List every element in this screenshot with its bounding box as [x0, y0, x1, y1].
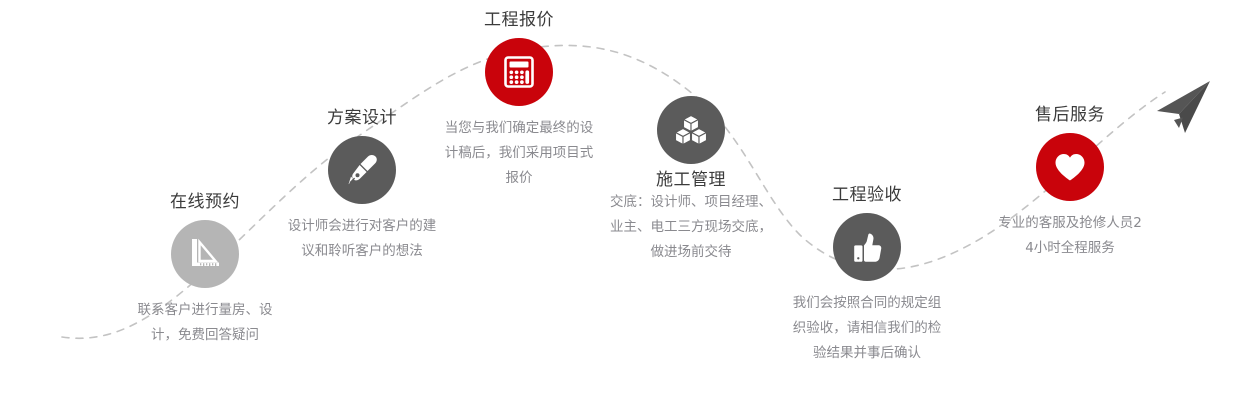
step-icon-circle[interactable] — [657, 96, 725, 164]
step-icon-circle[interactable] — [485, 38, 553, 106]
set-square-ruler-icon — [185, 234, 225, 274]
process-flow-infographic: 在线预约 联系客户进行量房、设计，免费回答疑问 — [0, 0, 1245, 402]
process-step-5[interactable]: 工程验收 我们会按照合同的规定组织验收，请相信我们的检验结果并事后确认 — [772, 185, 962, 366]
stacked-blocks-icon — [671, 110, 711, 150]
step-icon-circle[interactable] — [1036, 133, 1104, 201]
step-description: 当您与我们确定最终的设计稿后，我们采用项目式报价 — [444, 116, 594, 191]
step-title: 售后服务 — [975, 105, 1165, 125]
step-description: 我们会按照合同的规定组织验收，请相信我们的检验结果并事后确认 — [787, 291, 947, 366]
thumbs-up-icon — [847, 227, 887, 267]
step-description: 设计师会进行对客户的建议和聆听客户的想法 — [287, 214, 437, 264]
step-description: 联系客户进行量房、设计，免费回答疑问 — [130, 298, 280, 348]
fountain-pen-icon — [342, 150, 382, 190]
process-step-3[interactable]: 工程报价 — [424, 10, 614, 191]
calculator-icon — [499, 52, 539, 92]
heart-icon — [1050, 147, 1090, 187]
step-description: 交底：设计师、项目经理、业主、电工三方现场交底，做进场前交待 — [606, 190, 776, 265]
step-title: 工程验收 — [772, 185, 962, 205]
step-icon-circle[interactable] — [833, 213, 901, 281]
step-description: 专业的客服及抢修人员24小时全程服务 — [995, 211, 1145, 261]
process-step-6[interactable]: 售后服务 专业的客服及抢修人员24小时全程服务 — [975, 105, 1165, 261]
step-title: 施工管理 — [596, 170, 786, 190]
paper-plane-icon — [1148, 78, 1228, 142]
step-icon-circle[interactable] — [171, 220, 239, 288]
step-title: 工程报价 — [424, 10, 614, 30]
step-icon-circle[interactable] — [328, 136, 396, 204]
process-step-4[interactable]: 施工管理 交底：设计师、项目经理、业主、电工三方现场交底，做进场前交待 — [596, 88, 786, 265]
